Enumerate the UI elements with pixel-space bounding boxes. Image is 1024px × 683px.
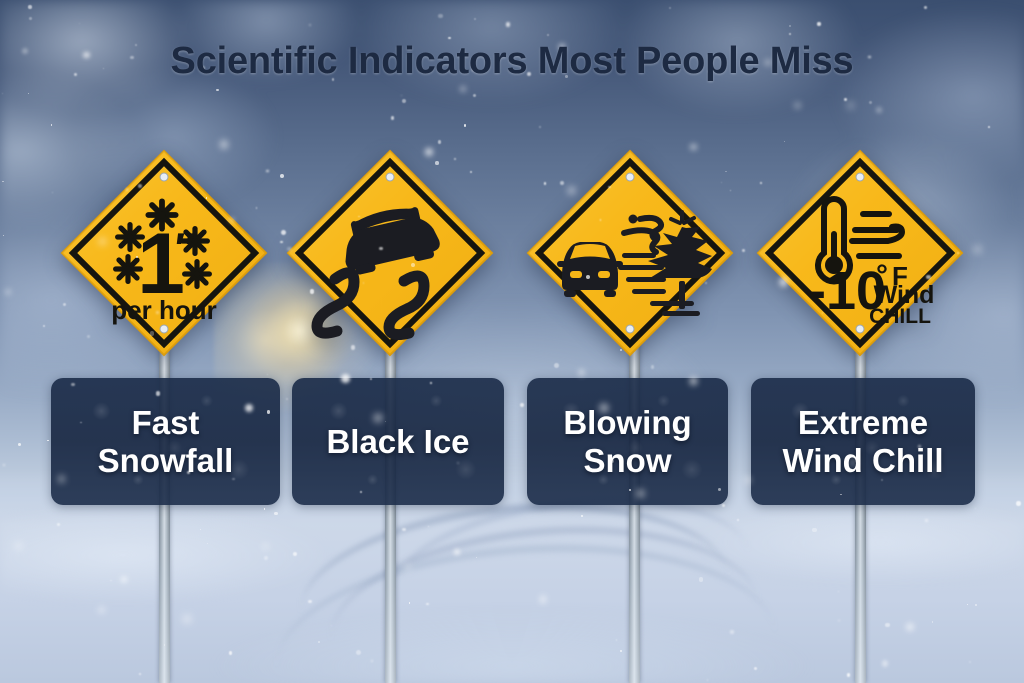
bolt-icon [856, 325, 864, 333]
page-title: Scientific Indicators Most People Miss [0, 40, 1024, 83]
bolt-icon [626, 325, 634, 333]
sign-black-ice[interactable] [282, 145, 498, 361]
card-extreme-wind-chill[interactable]: Extreme Wind Chill [751, 378, 975, 505]
card-blowing-snow[interactable]: Blowing Snow [527, 378, 728, 505]
sign-fast-snowfall[interactable]: 1 ″ per hour [56, 145, 272, 361]
snowfall-rate-caption: per hour [111, 295, 216, 325]
inch-mark: ″ [175, 224, 195, 271]
card-label-fast-snowfall: Fast Snowfall [88, 404, 244, 479]
infographic-stage: Scientific Indicators Most People Miss [0, 0, 1024, 683]
sign-blowing-snow[interactable] [522, 145, 738, 361]
card-label-black-ice: Black Ice [316, 423, 479, 460]
bolt-icon [160, 173, 168, 181]
bolt-icon [386, 173, 394, 181]
card-black-ice[interactable]: Black Ice [292, 378, 504, 505]
bolt-icon [856, 173, 864, 181]
card-fast-snowfall[interactable]: Fast Snowfall [51, 378, 280, 505]
bolt-icon [626, 173, 634, 181]
wind-chill-caption-line2: CHILL [869, 305, 931, 328]
sign-extreme-wind-chill[interactable]: -10 ° F Wind CHILL [752, 145, 968, 361]
bolt-icon [160, 325, 168, 333]
card-label-blowing-snow: Blowing Snow [553, 404, 701, 479]
card-label-extreme-wind-chill: Extreme Wind Chill [772, 404, 953, 479]
